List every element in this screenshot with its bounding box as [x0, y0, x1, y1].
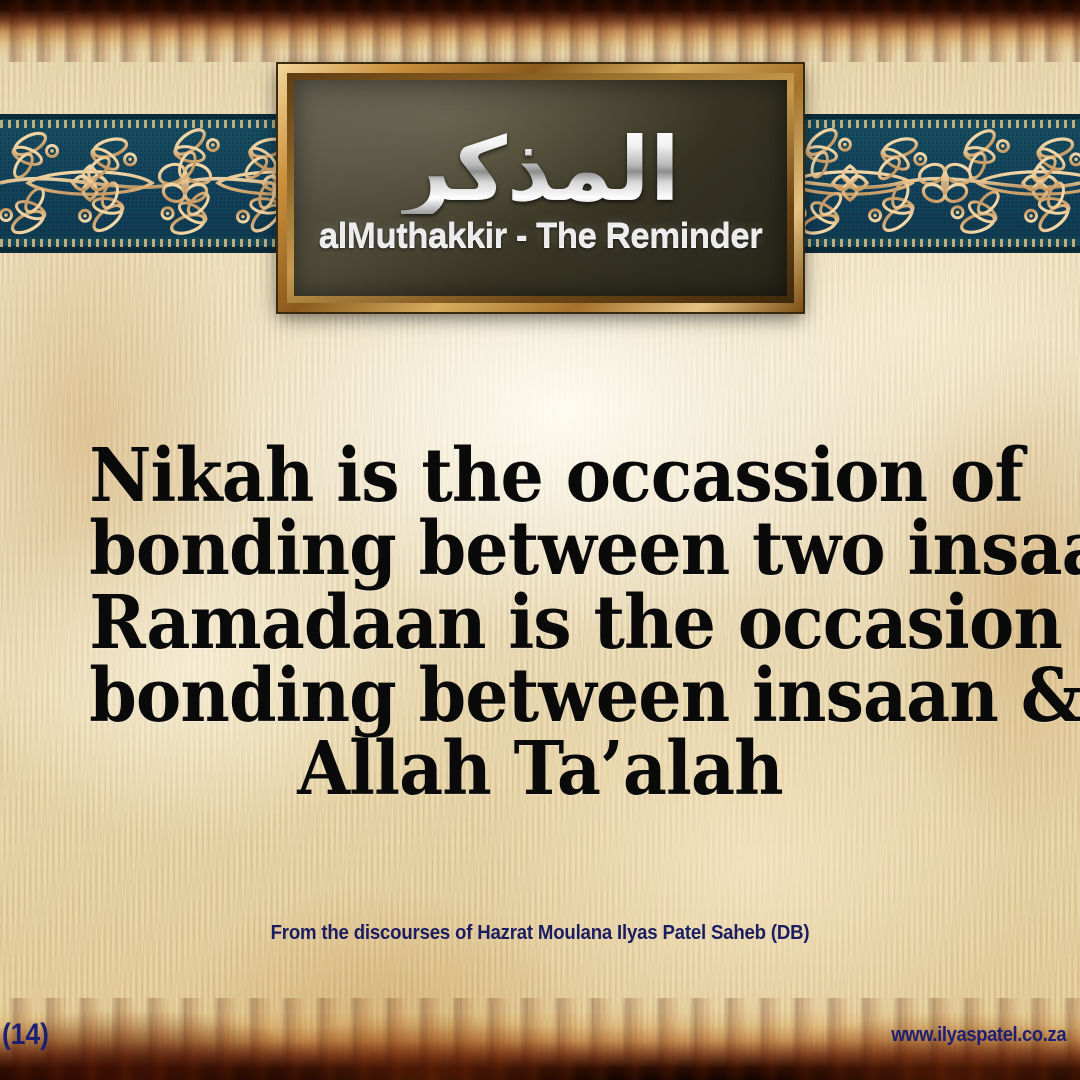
attribution-line: From the discourses of Hazrat Moulana Il… — [38, 922, 1042, 945]
logo-subtitle: alMuthakkir - The Reminder — [319, 216, 762, 256]
quote-text: Nikah is the occassion of bonding betwee… — [89, 440, 991, 806]
website-url[interactable]: www.ilyaspatel.co.za — [891, 1024, 1066, 1047]
quote-line-2: bonding between two insaan, — [89, 513, 991, 586]
quote-line-3: Ramadaan is the occasion of — [89, 587, 991, 660]
logo-plaque-frame: المذكر alMuthakkir - The Reminder — [278, 64, 803, 312]
quote-line-1: Nikah is the occassion of — [89, 440, 991, 513]
almuthakkir-arabic-wordmark: المذكر — [401, 126, 680, 214]
page-number: (14) — [2, 1018, 49, 1052]
plaque-inner-bevel: المذكر alMuthakkir - The Reminder — [287, 73, 794, 303]
plaque-face: المذكر alMuthakkir - The Reminder — [294, 80, 787, 296]
quote-line-5: Allah Ta’alah — [89, 733, 991, 806]
quote-line-4: bonding between insaan & — [89, 660, 991, 733]
poster-canvas: المذكر alMuthakkir - The Reminder Nikah … — [0, 0, 1080, 1080]
